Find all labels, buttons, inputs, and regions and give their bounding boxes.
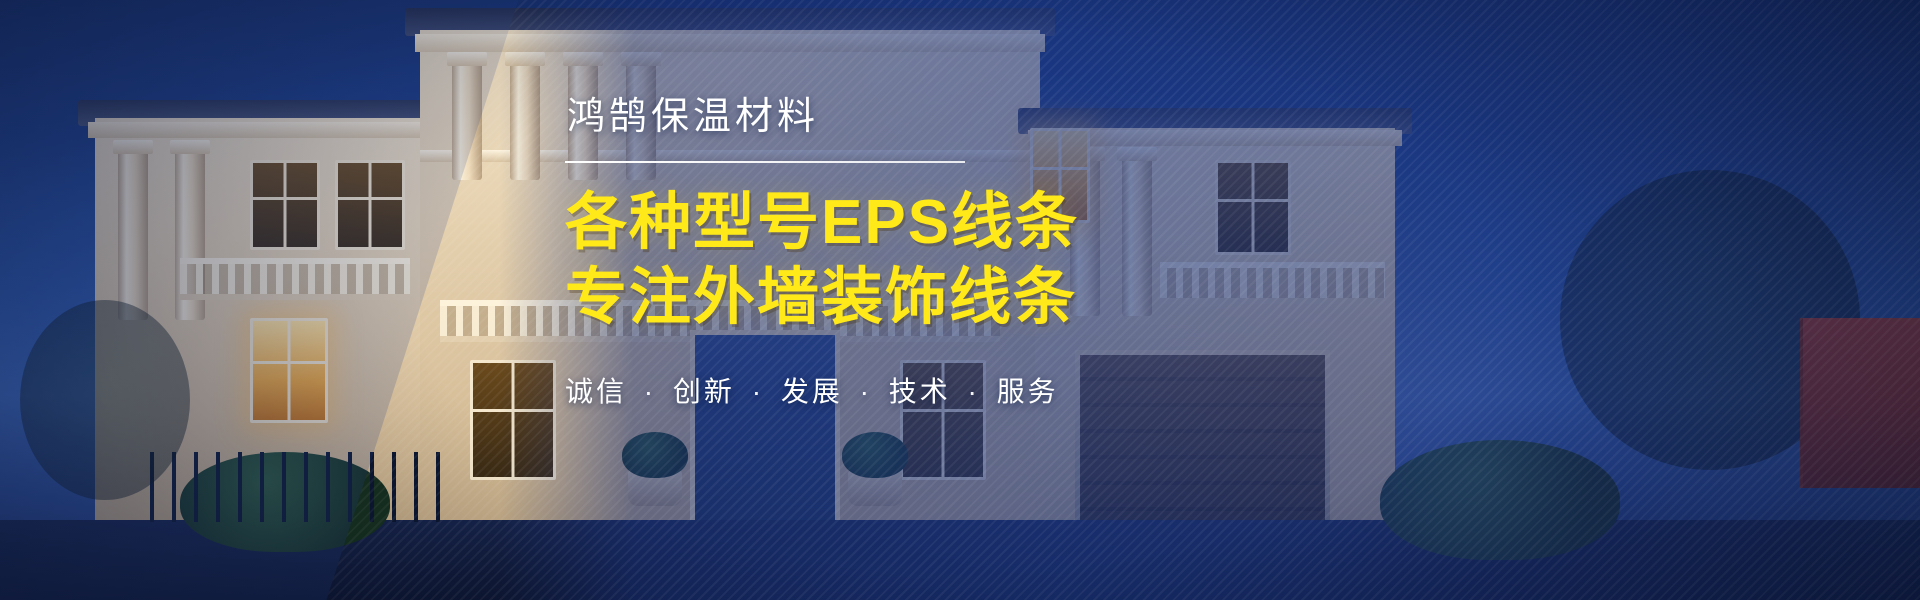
headline: 各种型号EPS线条 专注外墙装饰线条 [565,185,1305,336]
title-divider [565,161,965,163]
company-name: 鸿鹄保温材料 [565,95,1305,141]
tagline-item-3: 技术 [889,376,951,407]
tagline-sep-3: · [962,376,986,407]
tagline-sep-2: · [854,376,878,407]
banner-text-block: 鸿鹄保温材料 各种型号EPS线条 专注外墙装饰线条 诚信 · 创新 · 发展 ·… [565,95,1305,410]
promo-banner: 鸿鹄保温材料 各种型号EPS线条 专注外墙装饰线条 诚信 · 创新 · 发展 ·… [0,0,1920,600]
tagline-item-1: 创新 [673,376,735,407]
headline-line-1: 各种型号EPS线条 [565,188,1079,257]
tagline-sep-1: · [746,376,770,407]
headline-line-2: 专注外墙装饰线条 [565,260,1305,336]
tagline-sep-0: · [638,376,662,407]
tagline-item-2: 发展 [781,376,843,407]
tagline-item-4: 服务 [997,376,1059,407]
tagline: 诚信 · 创新 · 发展 · 技术 · 服务 [565,370,1305,410]
tagline-item-0: 诚信 [565,376,627,407]
